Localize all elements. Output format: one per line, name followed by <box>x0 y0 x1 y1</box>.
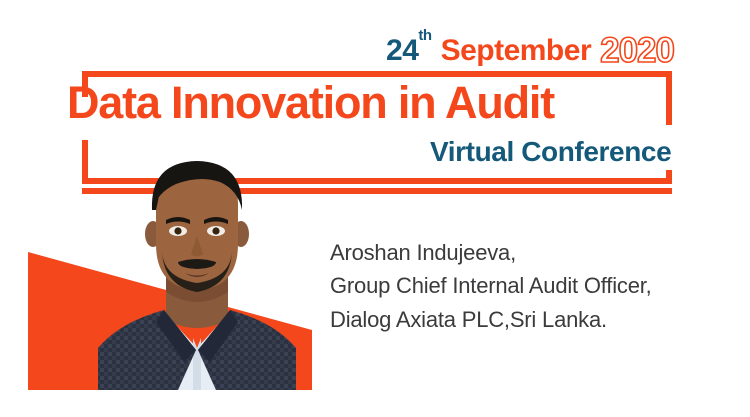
frame-right-top-tick <box>666 71 672 125</box>
conference-banner: 24th September 2020 Data Innovation in A… <box>0 0 750 417</box>
event-date: 24th September 2020 <box>386 31 674 66</box>
event-date-month: September <box>441 36 592 66</box>
speaker-role: Group Chief Internal Audit Officer, <box>330 269 652 302</box>
speaker-name: Aroshan Indujeeva, <box>330 236 652 269</box>
event-date-day: 24th <box>386 36 432 66</box>
page-subtitle: Virtual Conference <box>430 138 671 166</box>
speaker-organisation: Dialog Axiata PLC,Sri Lanka. <box>330 303 652 336</box>
event-date-day-number: 24 <box>386 34 418 67</box>
event-date-year: 2020 <box>600 33 674 68</box>
speaker-details: Aroshan Indujeeva, Group Chief Internal … <box>330 236 652 336</box>
page-title: Data Innovation in Audit <box>67 80 554 125</box>
event-date-day-suffix: th <box>418 27 431 44</box>
speaker-photo <box>92 152 302 390</box>
